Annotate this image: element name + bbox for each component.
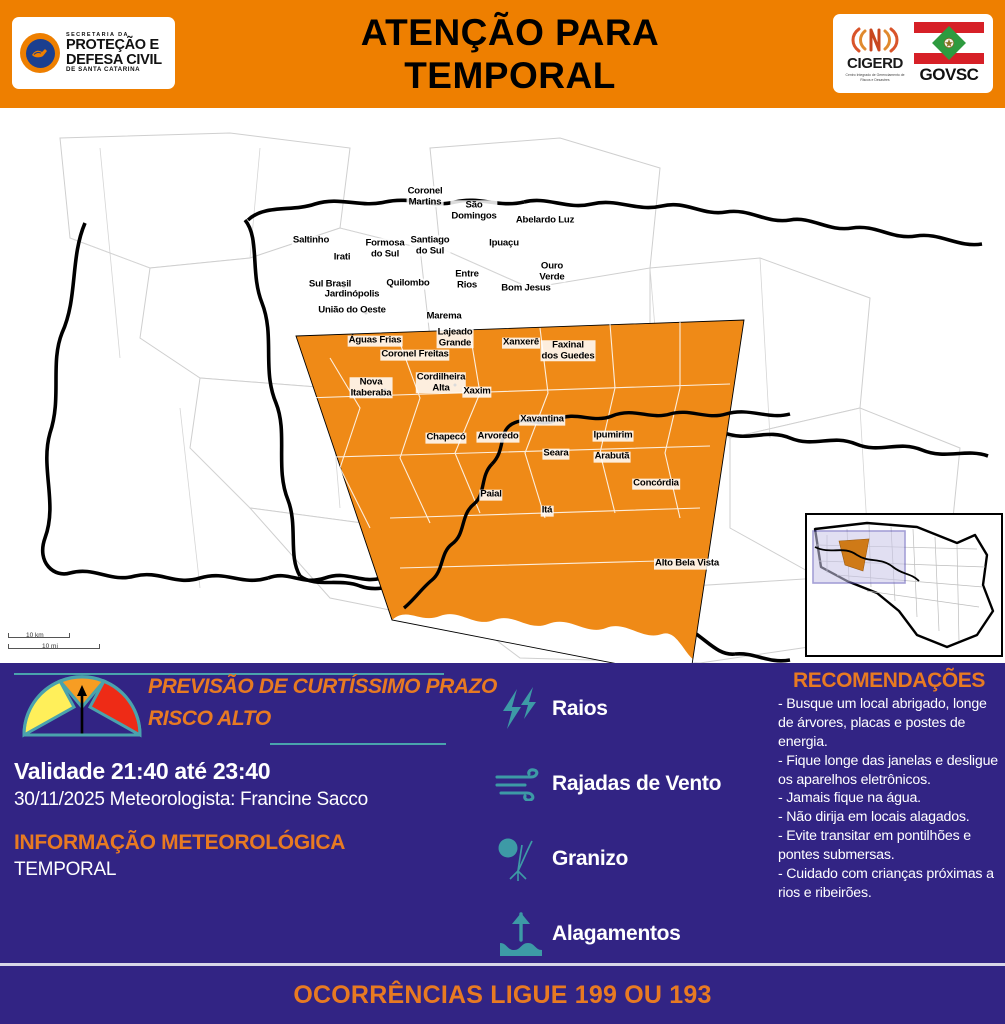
alert-map[interactable]: Coronel MartinsSão DomingosAbelardo LuzS… bbox=[0, 108, 1005, 663]
govsc-text: GOVSC bbox=[920, 65, 979, 85]
inset-minimap[interactable] bbox=[805, 513, 1003, 657]
meteorologist-text: 30/11/2025 Meteorologista: Francine Sacc… bbox=[14, 789, 368, 811]
alert-infographic: SECRETARIA DA PROTEÇÃO E DEFESA CIVIL DE… bbox=[0, 0, 1005, 1024]
city-label: Xavantina bbox=[519, 415, 565, 426]
header-bar: SECRETARIA DA PROTEÇÃO E DEFESA CIVIL DE… bbox=[0, 0, 1005, 108]
risk-level-label: RISCO ALTO bbox=[148, 707, 448, 731]
city-label: Entre Rios bbox=[454, 269, 480, 290]
city-label: Concórdia bbox=[632, 479, 680, 490]
hazard-label: Granizo bbox=[552, 847, 628, 871]
recommendation-item: - Evite transitar em pontilhões e pontes… bbox=[778, 827, 1000, 865]
alert-title-line1: ATENÇÃO PARA bbox=[260, 12, 760, 55]
city-label: Nova Itaberaba bbox=[350, 377, 393, 398]
sc-coat-of-arms bbox=[941, 35, 957, 51]
logo-line-santa-catarina: DE SANTA CATARINA bbox=[66, 67, 162, 73]
recommendation-item: - Fique longe das janelas e desligue os … bbox=[778, 752, 1000, 790]
hazard-item-granizo: Granizo bbox=[490, 823, 760, 895]
city-label: Cordilheira Alta bbox=[416, 372, 466, 393]
city-label: Coronel Freitas bbox=[380, 350, 449, 361]
inset-graphic bbox=[807, 515, 1001, 655]
city-label: Xaxim bbox=[462, 387, 491, 398]
hail-icon bbox=[490, 835, 552, 883]
info-panel: PREVISÃO DE CURTÍSSIMO PRAZO RISCO ALTO … bbox=[0, 663, 1005, 963]
city-label: Marema bbox=[425, 312, 462, 323]
partner-logos: CIGERD Centro Integrado de Gerenciamento… bbox=[833, 14, 993, 93]
city-label: Jardinópolis bbox=[324, 290, 381, 301]
recommendations-title: RECOMENDAÇÕES bbox=[778, 669, 1000, 693]
risk-gauge-graphic bbox=[20, 673, 144, 739]
recommendation-item: - Não dirija em locais alagados. bbox=[778, 808, 1000, 827]
city-label: Santiago do Sul bbox=[410, 235, 451, 256]
flooding-icon bbox=[490, 910, 552, 958]
hazard-item-alagamentos: Alagamentos bbox=[490, 898, 760, 970]
cigerd-name: CIGERD bbox=[847, 55, 903, 72]
city-label: Formosa do Sul bbox=[364, 238, 405, 259]
city-label: Lajeado Grande bbox=[437, 327, 474, 348]
hazard-item-vento: Rajadas de Vento bbox=[490, 748, 760, 820]
city-label: Chapecó bbox=[425, 433, 466, 444]
city-label: São Domingos bbox=[450, 200, 497, 221]
risk-gauge-icon bbox=[20, 673, 144, 739]
info-body: TEMPORAL bbox=[14, 859, 116, 881]
emergency-phone-text: OCORRÊNCIAS LIGUE 199 OU 193 bbox=[293, 981, 711, 1010]
info-heading: INFORMAÇÃO METEOROLÓGICA bbox=[14, 831, 345, 855]
lightning-bolt-icon bbox=[490, 685, 552, 733]
city-label: Bom Jesus bbox=[500, 284, 551, 295]
city-label: Coronel Martins bbox=[407, 186, 444, 207]
logo-line-protecao: PROTEÇÃO E bbox=[66, 38, 162, 53]
city-label: Paial bbox=[479, 490, 502, 501]
hazard-label: Raios bbox=[552, 697, 608, 721]
defesa-civil-glyph bbox=[30, 46, 50, 60]
recommendations-block: RECOMENDAÇÕES - Busque um local abrigado… bbox=[778, 669, 1000, 903]
scalebar: 10 km 10 mi bbox=[8, 633, 128, 655]
wind-gust-icon bbox=[490, 767, 552, 801]
cigerd-waves-icon bbox=[849, 25, 901, 55]
city-label: Arvoredo bbox=[476, 432, 519, 443]
govsc-gov: GOV bbox=[920, 65, 956, 84]
hazard-label: Alagamentos bbox=[552, 922, 681, 946]
city-label: Arabutã bbox=[594, 452, 631, 463]
city-label: Ouro Verde bbox=[538, 261, 565, 282]
govsc-logo: GOVSC bbox=[912, 22, 986, 85]
hazard-label: Rajadas de Vento bbox=[552, 772, 721, 796]
city-label: Seara bbox=[542, 449, 569, 460]
recommendation-item: - Busque um local abrigado, longe de árv… bbox=[778, 695, 1000, 752]
city-label: Alto Bela Vista bbox=[654, 559, 720, 570]
logo-line-defesa-civil: DEFESA CIVIL bbox=[66, 53, 162, 68]
validity-text: Validade 21:40 até 23:40 bbox=[14, 758, 270, 785]
city-label: Irati bbox=[333, 253, 352, 264]
scalebar-km: 10 km bbox=[26, 632, 44, 639]
recommendation-item: - Jamais fique na água. bbox=[778, 789, 1000, 808]
alert-title-line2: TEMPORAL bbox=[260, 55, 760, 98]
city-label: União do Oeste bbox=[317, 306, 387, 317]
hazard-list: Raios Rajadas de Vento bbox=[490, 673, 760, 973]
city-label: Quilombo bbox=[385, 279, 430, 290]
defesa-civil-logo: SECRETARIA DA PROTEÇÃO E DEFESA CIVIL DE… bbox=[12, 17, 175, 89]
cigerd-subtitle: Centro Integrado de Gerenciamento de Ris… bbox=[840, 73, 910, 82]
city-label: Saltinho bbox=[292, 236, 330, 247]
city-label: Águas Frias bbox=[348, 336, 403, 347]
divider-risk bbox=[270, 743, 446, 745]
risk-text-block: PREVISÃO DE CURTÍSSIMO PRAZO RISCO ALTO bbox=[148, 675, 448, 731]
hazard-item-raios: Raios bbox=[490, 673, 760, 745]
city-label: Faxinal dos Guedes bbox=[541, 340, 596, 361]
city-label: Xanxerê bbox=[502, 338, 540, 349]
alert-area-polygon bbox=[296, 320, 744, 663]
recommendations-list: - Busque um local abrigado, longe de árv… bbox=[778, 695, 1000, 903]
defesa-civil-emblem-icon bbox=[20, 33, 60, 73]
city-label: Itá bbox=[541, 506, 554, 517]
govsc-sc: SC bbox=[956, 65, 979, 84]
alert-title: ATENÇÃO PARA TEMPORAL bbox=[260, 12, 760, 97]
recommendation-item: - Cuidado com crianças próximas a rios e… bbox=[778, 865, 1000, 903]
scalebar-mi: 10 mi bbox=[42, 643, 58, 650]
santa-catarina-flag-icon bbox=[914, 22, 984, 64]
forecast-label: PREVISÃO DE CURTÍSSIMO PRAZO bbox=[148, 675, 448, 699]
city-label: Ipuaçu bbox=[488, 239, 520, 250]
city-label: Ipumirim bbox=[593, 431, 634, 442]
footer-bar: OCORRÊNCIAS LIGUE 199 OU 193 bbox=[0, 963, 1005, 1024]
city-label: Abelardo Luz bbox=[515, 216, 575, 227]
cigerd-logo: CIGERD Centro Integrado de Gerenciamento… bbox=[840, 25, 910, 82]
